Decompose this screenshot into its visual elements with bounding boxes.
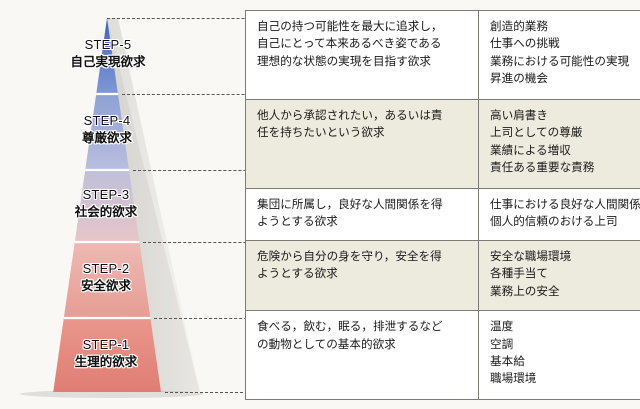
row-4-examples-cell: 安全な職場環境 各種手当て 業務上の安全 [479, 240, 640, 310]
pyramid-tier-2 [64, 242, 151, 318]
pyramid-tier-3 [75, 170, 140, 242]
example-line: 業務における可能性の実現 [490, 53, 640, 70]
example-line: 各種手当て [490, 265, 640, 282]
example-line: 上司としての尊厳 [490, 124, 640, 141]
desc-line: 自己の持つ可能性を最大に追求し， [257, 18, 469, 35]
example-line: 基本給 [490, 353, 640, 370]
pyramid-tier-1 [53, 318, 161, 392]
example-line: 個人的信頼のおける上司 [490, 213, 640, 230]
example-line: 仕事における良好な人間関係 [490, 196, 640, 213]
desc-line: 任を持ちたいという欲求 [257, 124, 469, 141]
example-line: 職場環境 [490, 370, 640, 387]
desc-line: 自己にとって本来あるべき姿である [257, 35, 469, 52]
example-line: 仕事への挑戦 [490, 35, 640, 52]
row-2-description-cell: 他人から承認されたい，あるいは責 任を持ちたいという欲求 [246, 99, 479, 188]
desc-line: 食べる，飲む，眠る，排泄するなど [257, 318, 469, 335]
desc-line: 理想的な状態の実現を目指す欲求 [257, 53, 469, 70]
desc-line: 集団に所属し，良好な人間関係を得 [257, 196, 469, 213]
example-line: 創造的業務 [490, 18, 640, 35]
table-row: 食べる，飲む，眠る，排泄するなど の動物としての基本的欲求 温度 空調 基本給 … [246, 311, 640, 400]
pyramid-graphic: STEP-5 自己実現欲求 STEP-4 尊厳欲求 STEP-3 社会的欲求 S… [0, 0, 245, 409]
desc-line: ようとする欲求 [257, 265, 469, 282]
example-line: 高い肩書き [490, 107, 640, 124]
desc-line: 他人から承認されたい，あるいは責 [257, 107, 469, 124]
desc-line: 危険から自分の身を守り，安全を得 [257, 248, 469, 265]
example-line: 安全な職場環境 [490, 248, 640, 265]
maslow-hierarchy-diagram: STEP-5 自己実現欲求 STEP-4 尊厳欲求 STEP-3 社会的欲求 S… [0, 0, 640, 409]
row-5-examples-cell: 温度 空調 基本給 職場環境 [479, 311, 640, 400]
desc-line: ようとする欲求 [257, 213, 469, 230]
example-line: 業務上の安全 [490, 283, 640, 300]
example-line: 責任ある重要な責務 [490, 159, 640, 176]
row-1-description-cell: 自己の持つ可能性を最大に追求し， 自己にとって本来あるべき姿である 理想的な状態… [246, 11, 479, 100]
pyramid-svg [0, 0, 245, 409]
row-5-description-cell: 食べる，飲む，眠る，排泄するなど の動物としての基本的欲求 [246, 311, 479, 400]
needs-description-table: 自己の持つ可能性を最大に追求し， 自己にとって本来あるべき姿である 理想的な状態… [245, 10, 640, 400]
row-2-examples-cell: 高い肩書き 上司としての尊厳 業績による増収 責任ある重要な責務 [479, 99, 640, 188]
example-line: 空調 [490, 336, 640, 353]
table-row: 他人から承認されたい，あるいは責 任を持ちたいという欲求 高い肩書き 上司として… [246, 99, 640, 188]
desc-line: の動物としての基本的欲求 [257, 336, 469, 353]
row-1-examples-cell: 創造的業務 仕事への挑戦 業務における可能性の実現 昇進の機会 [479, 11, 640, 100]
table-row: 自己の持つ可能性を最大に追求し， 自己にとって本来あるべき姿である 理想的な状態… [246, 11, 640, 100]
example-line: 温度 [490, 318, 640, 335]
example-line: 業績による増収 [490, 142, 640, 159]
table-row: 危険から自分の身を守り，安全を得 ようとする欲求 安全な職場環境 各種手当て 業… [246, 240, 640, 310]
table-row: 集団に所属し，良好な人間関係を得 ようとする欲求 仕事における良好な人間関係 個… [246, 188, 640, 240]
example-line: 昇進の機会 [490, 70, 640, 87]
row-3-description-cell: 集団に所属し，良好な人間関係を得 ようとする欲求 [246, 188, 479, 240]
row-4-description-cell: 危険から自分の身を守り，安全を得 ようとする欲求 [246, 240, 479, 310]
row-3-examples-cell: 仕事における良好な人間関係 個人的信頼のおける上司 [479, 188, 640, 240]
